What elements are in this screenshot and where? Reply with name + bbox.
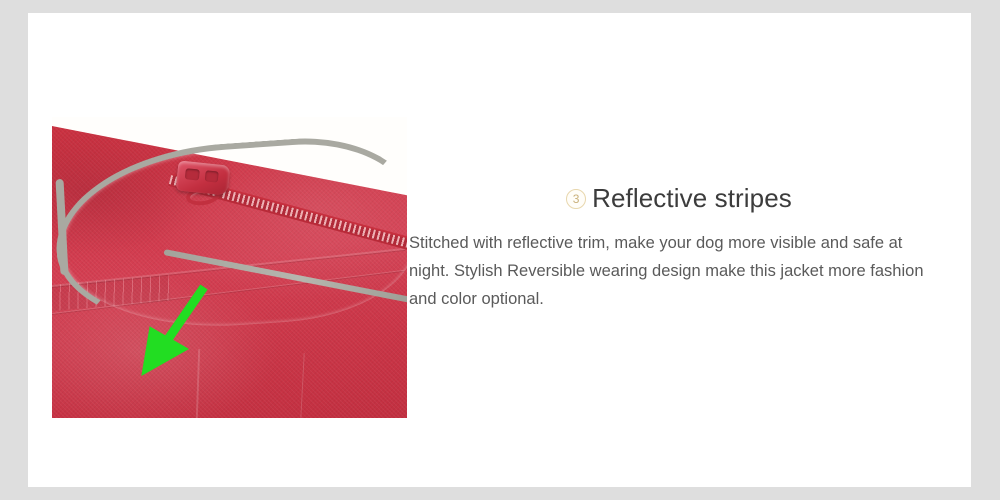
page-root: 3 Reflective stripes Stitched with refle… [0, 0, 1000, 500]
product-photo [52, 117, 407, 418]
feature-heading-row: 3 Reflective stripes [409, 183, 949, 214]
annotation-arrow-icon [134, 283, 212, 379]
zipper-pull [176, 160, 231, 195]
step-number-badge: 3 [566, 189, 586, 209]
feature-heading: Reflective stripes [592, 183, 792, 214]
feature-text-column: 3 Reflective stripes Stitched with refle… [409, 183, 949, 313]
content-card: 3 Reflective stripes Stitched with refle… [28, 13, 971, 487]
feature-description: Stitched with reflective trim, make your… [409, 229, 939, 313]
